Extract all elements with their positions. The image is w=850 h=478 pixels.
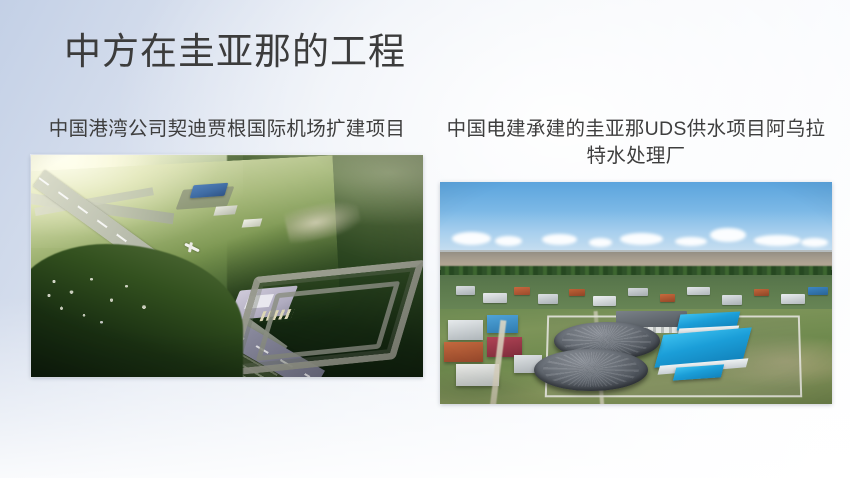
airport-render-canvas <box>31 155 423 377</box>
image-caption-right: 中国电建承建的圭亚那UDS供水项目阿乌拉特水处理厂 <box>440 116 832 170</box>
water-plant-vignette <box>440 182 832 404</box>
content-column-left: 中国港湾公司契迪贾根国际机场扩建项目 <box>31 116 423 377</box>
water-plant-canvas <box>440 182 832 404</box>
image-airport-render <box>31 155 423 377</box>
airport-vignette <box>31 155 423 377</box>
page-title: 中方在圭亚那的工程 <box>64 28 406 76</box>
slide: 中方在圭亚那的工程 中国港湾公司契迪贾根国际机场扩建项目 <box>0 0 850 478</box>
content-column-right: 中国电建承建的圭亚那UDS供水项目阿乌拉特水处理厂 <box>440 116 832 404</box>
image-water-plant-photo <box>440 182 832 404</box>
image-caption-left: 中国港湾公司契迪贾根国际机场扩建项目 <box>31 116 423 143</box>
